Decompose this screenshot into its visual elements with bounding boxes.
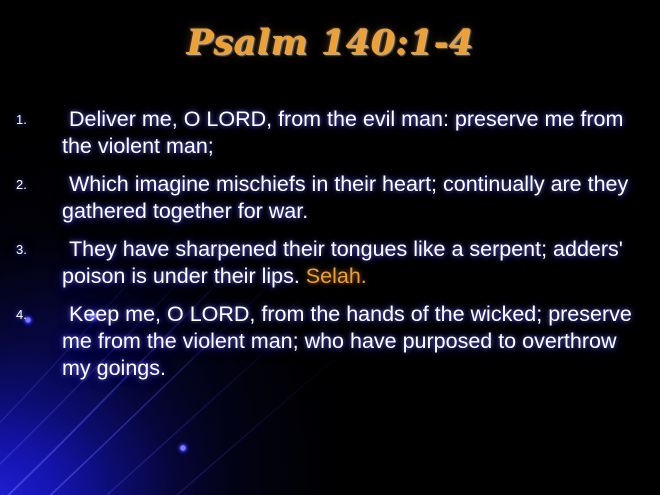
list-item-number: 3.: [14, 236, 62, 263]
title-area: Psalm 140:1-4: [0, 22, 660, 63]
list-item-text: Keep me, O LORD, from the hands of the w…: [62, 301, 660, 382]
verse-body: Which imagine mischiefs in their heart; …: [62, 172, 628, 223]
presentation-slide: Psalm 140:1-4 1. Deliver me, O LORD, fro…: [0, 0, 660, 495]
list-item: 1. Deliver me, O LORD, from the evil man…: [0, 106, 660, 160]
list-item-number: 1.: [14, 106, 62, 133]
verse-list: 1. Deliver me, O LORD, from the evil man…: [0, 106, 660, 393]
verse-body: Deliver me, O LORD, from the evil man: p…: [62, 107, 623, 158]
list-item-text: Which imagine mischiefs in their heart; …: [62, 171, 660, 225]
page-title: Psalm 140:1-4: [187, 22, 474, 63]
list-item: 4. Keep me, O LORD, from the hands of th…: [0, 301, 660, 382]
list-item-text: They have sharpened their tongues like a…: [62, 236, 660, 290]
list-item-number: 4.: [14, 301, 62, 328]
list-item: 2. Which imagine mischiefs in their hear…: [0, 171, 660, 225]
verse-body: Keep me, O LORD, from the hands of the w…: [62, 302, 632, 380]
list-item: 3. They have sharpened their tongues lik…: [0, 236, 660, 290]
selah-accent-text: Selah.: [306, 264, 367, 288]
list-item-text: Deliver me, O LORD, from the evil man: p…: [62, 106, 660, 160]
list-item-number: 2.: [14, 171, 62, 198]
